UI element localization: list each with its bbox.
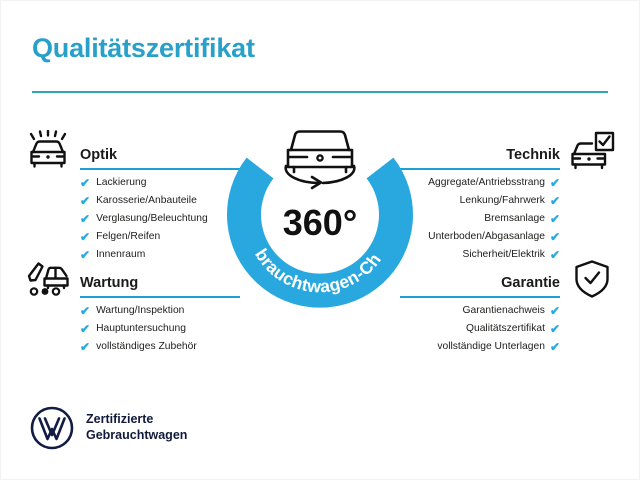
list-item-label: Lackierung xyxy=(96,178,146,188)
list-item-label: Lenkung/Fahrwerk xyxy=(460,196,545,206)
list-item-label: vollständige Unterlagen xyxy=(437,342,545,352)
section-garantie-list: Garantienachweis ✔ Qualitätszertifikat ✔… xyxy=(390,302,620,356)
car-rotation-icon xyxy=(286,132,355,189)
list-item-label: Verglasung/Beleuchtung xyxy=(96,214,208,224)
section-garantie-title: Garantie xyxy=(501,275,560,291)
list-item: ✔ Verglasung/Beleuchtung xyxy=(20,210,250,228)
qualitaetszertifikat-page: Qualitätszertifikat xyxy=(0,0,640,480)
shield-check-icon xyxy=(568,258,616,300)
section-optik-rule xyxy=(80,168,240,170)
list-item: Aggregate/Antriebsstrang ✔ xyxy=(390,174,620,192)
list-item: ✔ Karosserie/Anbauteile xyxy=(20,192,250,210)
section-technik-header: Technik xyxy=(390,128,620,174)
check-icon: ✔ xyxy=(550,341,560,353)
section-wartung: Wartung ✔ Wartung/Inspektion ✔ Hauptunte… xyxy=(20,256,250,356)
section-technik: Technik Aggregate/Antriebsstrang ✔ Lenku… xyxy=(390,128,620,264)
list-item-label: Wartung/Inspektion xyxy=(96,306,184,316)
section-optik-list: ✔ Lackierung ✔ Karosserie/Anbauteile ✔ V… xyxy=(20,174,250,264)
list-item-label: Karosserie/Anbauteile xyxy=(96,196,197,206)
check-icon: ✔ xyxy=(550,177,560,189)
list-item: ✔ Lackierung xyxy=(20,174,250,192)
section-garantie-header: Garantie xyxy=(390,256,620,302)
check-icon: ✔ xyxy=(550,195,560,207)
section-technik-list: Aggregate/Antriebsstrang ✔ Lenkung/Fahrw… xyxy=(390,174,620,264)
list-item: ✔ vollständiges Zubehör xyxy=(20,338,250,356)
car-checkbox-icon xyxy=(568,130,616,172)
check-icon: ✔ xyxy=(80,323,90,335)
list-item-label: Unterboden/Abgasanlage xyxy=(428,232,545,242)
section-optik-header: Optik xyxy=(20,128,250,174)
list-item-label: Hauptuntersuchung xyxy=(96,324,186,334)
list-item-label: Garantienachweis xyxy=(463,306,545,316)
car-service-tool-icon xyxy=(24,258,72,300)
vw-brand-line-2: Gebrauchtwagen xyxy=(86,428,187,444)
section-wartung-header: Wartung xyxy=(20,256,250,302)
section-technik-title: Technik xyxy=(506,147,560,163)
list-item-label: Aggregate/Antriebsstrang xyxy=(428,178,545,188)
section-garantie: Garantie Garantienachweis ✔ Qualitätszer… xyxy=(390,256,620,356)
car-shine-icon xyxy=(24,130,72,172)
section-wartung-rule xyxy=(80,296,240,298)
check-icon: ✔ xyxy=(80,341,90,353)
list-item: Bremsanlage ✔ xyxy=(390,210,620,228)
check-icon: ✔ xyxy=(550,231,560,243)
vw-logo-icon xyxy=(30,406,74,450)
list-item: Qualitätszertifikat ✔ xyxy=(390,320,620,338)
check-icon: ✔ xyxy=(80,305,90,317)
check-icon: ✔ xyxy=(550,213,560,225)
vw-brand-line-1: Zertifizierte xyxy=(86,412,187,428)
list-item: Unterboden/Abgasanlage ✔ xyxy=(390,228,620,246)
list-item-label: Bremsanlage xyxy=(484,214,545,224)
list-item: vollständige Unterlagen ✔ xyxy=(390,338,620,356)
360-gebrauchtwagen-check-badge: Gebrauchtwagen-Check 360° xyxy=(222,116,418,326)
list-item-label: Qualitätszertifikat xyxy=(466,324,545,334)
badge-center-label: 360° xyxy=(283,202,357,243)
section-garantie-rule xyxy=(400,296,560,298)
list-item: ✔ Hauptuntersuchung xyxy=(20,320,250,338)
section-wartung-list: ✔ Wartung/Inspektion ✔ Hauptuntersuchung… xyxy=(20,302,250,356)
list-item: Garantienachweis ✔ xyxy=(390,302,620,320)
list-item-label: Felgen/Reifen xyxy=(96,232,160,242)
section-optik-title: Optik xyxy=(80,147,117,163)
list-item: ✔ Felgen/Reifen xyxy=(20,228,250,246)
page-title: Qualitätszertifikat xyxy=(32,33,255,64)
vw-brand-footer: Zertifizierte Gebrauchtwagen xyxy=(30,406,187,450)
title-divider xyxy=(32,91,608,93)
list-item-label: vollständiges Zubehör xyxy=(96,342,197,352)
check-icon: ✔ xyxy=(80,177,90,189)
vw-brand-text: Zertifizierte Gebrauchtwagen xyxy=(86,412,187,443)
check-icon: ✔ xyxy=(80,213,90,225)
check-icon: ✔ xyxy=(550,305,560,317)
check-icon: ✔ xyxy=(80,195,90,207)
check-icon: ✔ xyxy=(80,231,90,243)
section-wartung-title: Wartung xyxy=(80,275,138,291)
section-technik-rule xyxy=(400,168,560,170)
check-icon: ✔ xyxy=(550,323,560,335)
section-optik: Optik ✔ Lackierung ✔ Karosserie/Anbautei… xyxy=(20,128,250,264)
list-item: ✔ Wartung/Inspektion xyxy=(20,302,250,320)
list-item: Lenkung/Fahrwerk ✔ xyxy=(390,192,620,210)
